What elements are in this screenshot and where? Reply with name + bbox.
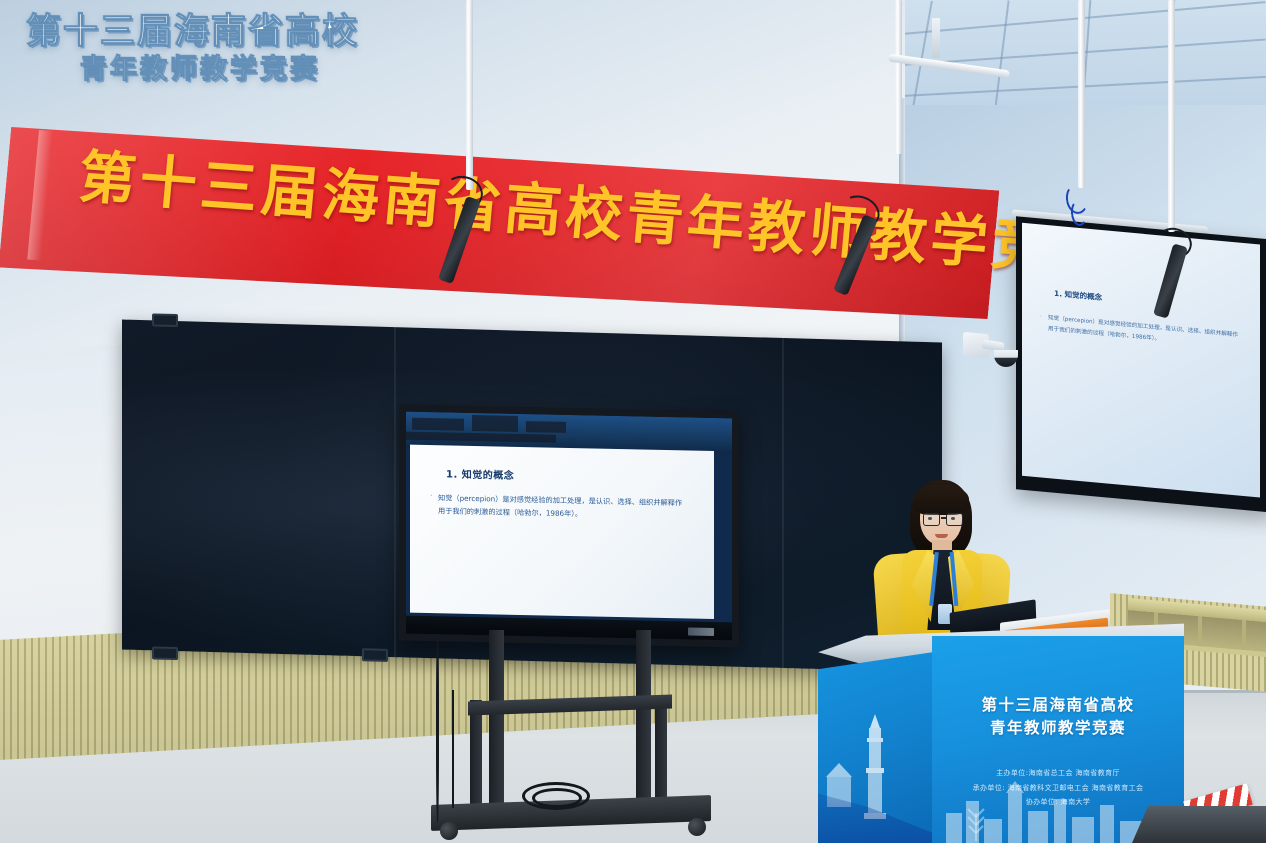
projected-slide-title: 1. 知觉的概念 [1054,288,1102,303]
overlay-title: 第十三届海南省高校 青年教师教学竞赛 [26,14,359,84]
projection-screen: 1. 知觉的概念 · 知觉（percepion）是对感觉经验的加工处理，是认识、… [1016,216,1266,512]
podium-title-line1: 第十三届海南省高校 [981,696,1134,714]
glasses-right-lens [946,513,963,526]
projected-slide-body: 知觉（percepion）是对感觉经验的加工处理，是认识、选择、组织并解释作用于… [1048,313,1238,352]
floor-platform [1132,806,1266,843]
podium-title-line2: 青年教师教学竞赛 [990,719,1126,737]
mic-drop-pole-left [466,0,473,190]
overlay-title-line1: 第十三届海南省高校 [26,14,359,50]
light-stem [932,18,940,58]
presenter-mouth [935,534,948,538]
mic-drop-pole-mid [895,0,902,154]
projected-bullet-marker: · [1040,313,1042,319]
display-brand-logo [688,627,714,636]
display-bezel-bottom [406,616,732,641]
glasses-left-lens [923,513,940,526]
glasses-bridge [941,517,946,519]
clock-tower-graphic [860,714,890,819]
lecture-slide: 1. 知觉的概念 · 知觉（percepion）是对感觉经验的加工处理，是认识、… [410,445,714,619]
podium-title: 第十三届海南省高校 青年教师教学竞赛 [932,694,1184,741]
slide-body-text: 知觉（percepion）是对感觉经验的加工处理，是认识、选择、组织并解释作用于… [438,491,688,523]
photo-scene: 第十三届海南省高校青年教师教学竞赛 1. 知觉的概念 · 知觉（percepio… [0,0,1266,843]
projection-surface: 1. 知觉的概念 · 知觉（percepion）是对感觉经验的加工处理，是认识、… [1022,223,1260,498]
overlay-title-line2: 青年教师教学竞赛 [80,56,359,84]
mic-drop-pole-far-right [1168,0,1175,232]
display-panel: 1. 知觉的概念 · 知觉（percepion）是对感觉经验的加工处理，是认识、… [406,412,732,641]
interactive-display[interactable]: 1. 知觉的概念 · 知觉（percepion）是对感觉经验的加工处理，是认识、… [399,404,739,647]
presenter-hair-front [913,485,969,515]
podium-side-panel [818,652,934,843]
mic-drop-pole-right [1078,0,1085,188]
slide-title: 1. 知觉的概念 [446,465,514,481]
slide-bullet-marker: · [430,492,432,499]
